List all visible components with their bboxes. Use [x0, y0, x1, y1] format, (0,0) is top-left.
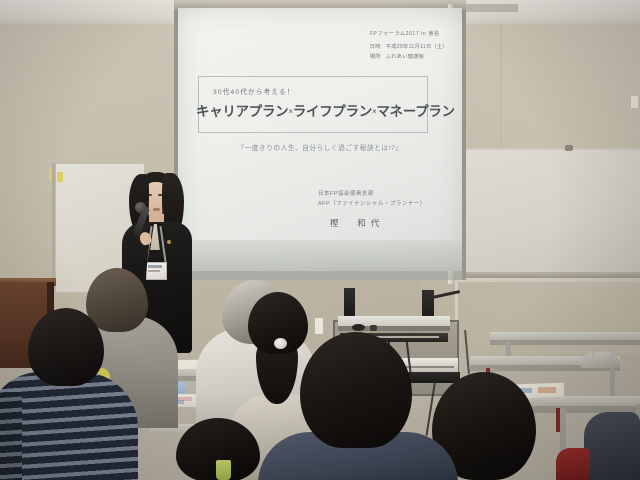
- slide-title: キャリアプラン×ライフプラン×マネープラン: [196, 100, 432, 120]
- slide-date-label: 日時: [370, 43, 386, 53]
- presenter-name-badge-header: [148, 265, 162, 268]
- wall-note-white: [315, 318, 323, 334]
- presentation-slide: FPフォーラム2017 in 徳島 日時平成29年11月11日（土） 場所ふれあ…: [178, 8, 462, 271]
- handout-paper-right-graphic2: [538, 387, 556, 393]
- presenter-name-badge-text: [148, 270, 160, 272]
- slide-place-label: 場所: [370, 53, 386, 63]
- slide-title-box: 30代40代から考える！ キャリアプラン×ライフプラン×マネープラン: [198, 76, 428, 133]
- presenter-mouth: [153, 208, 160, 211]
- slide-place-value: ふれあい健康館: [386, 54, 424, 60]
- shoulder-bag-handle: [592, 346, 614, 357]
- green-cup: [216, 460, 231, 480]
- slide-title-part1: キャリアプラン: [196, 104, 288, 119]
- slide-quote: 『一度きりの人生、自分らしく過ごす秘訣とは!?』: [178, 142, 462, 152]
- slide-org-block: 日本FP協会徳島支部 AFP（ファイナンシャル・プランナー）: [318, 190, 426, 210]
- slide-title-part3: マネープラン: [376, 104, 454, 119]
- projection-screen-shadow: [178, 240, 462, 280]
- right-whiteboard: [456, 148, 640, 282]
- attendee-bob-cut-head: [300, 332, 412, 448]
- attendee-far-right-body: [584, 412, 640, 480]
- projection-screen: FPフォーラム2017 in 徳島 日時平成29年11月11日（土） 場所ふれあ…: [178, 8, 462, 271]
- seminar-photograph: FPフォーラム2017 in 徳島 日時平成29年11月11日（土） 場所ふれあ…: [0, 0, 640, 480]
- av-cart-knob: [352, 324, 365, 331]
- slide-place-row: 場所ふれあい健康館: [370, 53, 448, 63]
- attendee-ponytail-hair-tie: [274, 338, 287, 349]
- slide-date-row: 日時平成29年11月11日（土）: [370, 43, 448, 53]
- slide-title-part2: ライフプラン: [293, 104, 372, 119]
- attendee-striped-sweater-head: [28, 308, 104, 386]
- desk-row-back-side: [490, 340, 640, 345]
- slide-org-line2: AFP（ファイナンシャル・プランナー）: [318, 200, 426, 210]
- slide-meta-block: FPフォーラム2017 in 徳島 日時平成29年11月11日（土） 場所ふれあ…: [370, 30, 448, 63]
- attendee-far-right-bag: [556, 448, 590, 480]
- slide-presenter-name: 樫 和代: [330, 217, 384, 229]
- slide-event-header: FPフォーラム2017 in 徳島: [370, 30, 448, 40]
- whiteboard-marker-tray: [456, 272, 640, 278]
- slide-org-line1: 日本FP協会徳島支部: [318, 190, 426, 200]
- slide-date-value: 平成29年11月11日（土）: [386, 44, 448, 50]
- microphone-head: [135, 202, 146, 213]
- av-cart-knob-secondary: [370, 325, 377, 331]
- attendee-striped-sweater-shoulder: [0, 392, 22, 480]
- wall-note-corner: [631, 96, 638, 108]
- left-whiteboard-tag: [57, 172, 63, 182]
- presenter-lapel-pin: [167, 240, 171, 244]
- slide-kicker: 30代40代から考える！: [213, 86, 295, 96]
- desk-row-middle-leg-right: [610, 366, 615, 400]
- whiteboard-clip: [565, 145, 573, 151]
